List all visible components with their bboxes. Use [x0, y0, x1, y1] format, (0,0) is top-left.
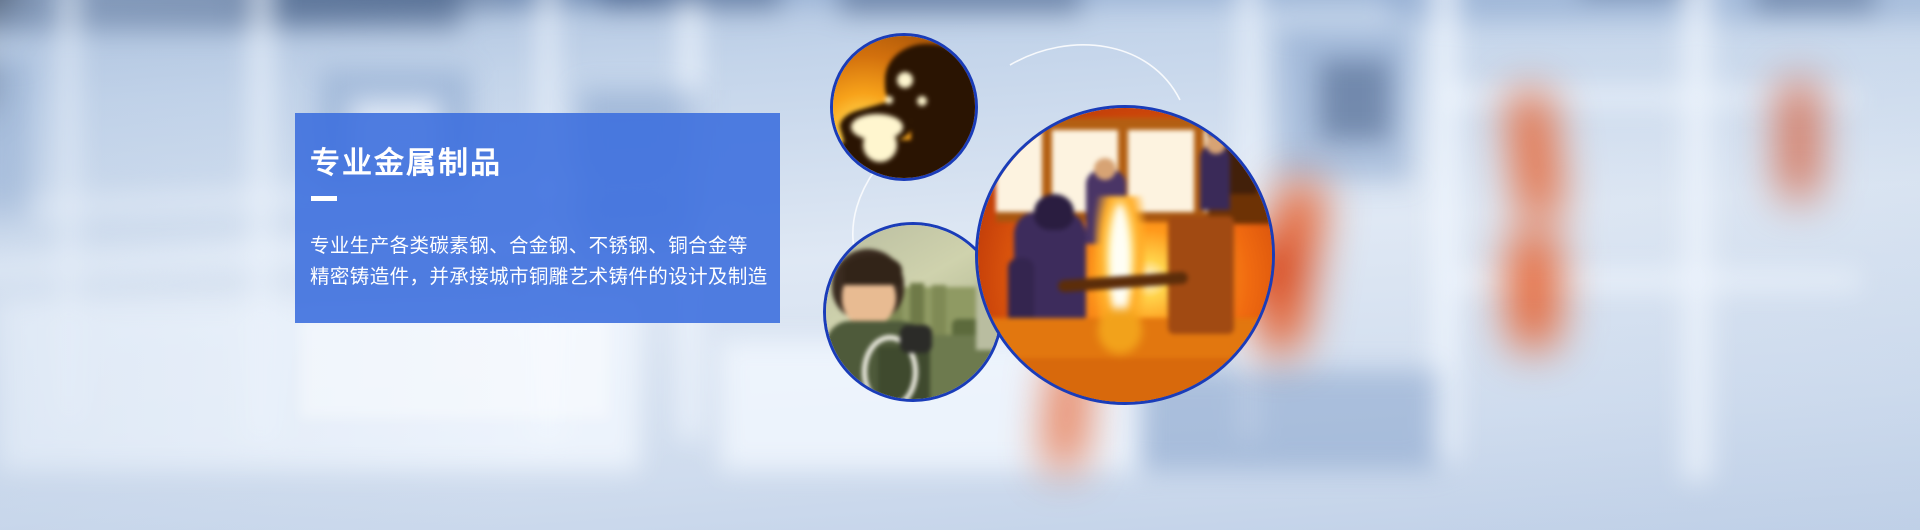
background-white-panel	[300, 318, 608, 418]
description-line-1: 专业生产各类碳素钢、合金钢、不锈钢、铜合金等	[310, 231, 780, 262]
page-title: 专业金属制品	[310, 147, 780, 180]
image-circle-foundry	[975, 105, 1275, 405]
title-divider	[311, 196, 337, 201]
description-line-2: 精密铸造件，并承接城市铜雕艺术铸件的设计及制造	[310, 262, 780, 293]
text-panel: 专业金属制品 专业生产各类碳素钢、合金钢、不锈钢、铜合金等 精密铸造件，并承接城…	[295, 113, 780, 323]
image-circle-welding	[830, 33, 978, 181]
hero-banner: 专业金属制品 专业生产各类碳素钢、合金钢、不锈钢、铜合金等 精密铸造件，并承接城…	[0, 0, 1920, 530]
